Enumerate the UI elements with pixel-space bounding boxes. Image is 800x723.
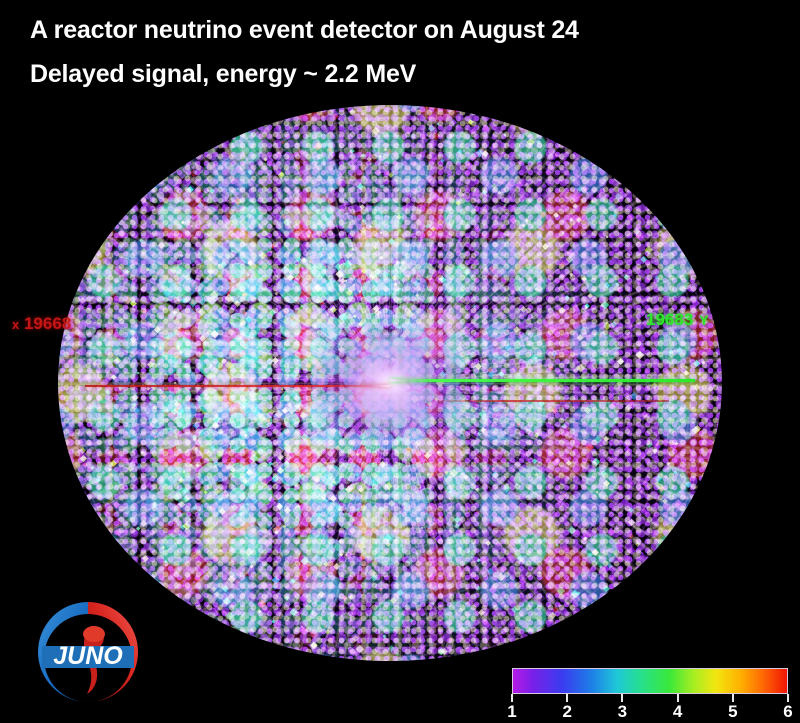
colorbar-labels: 123456 <box>512 702 788 723</box>
y-axis-value: 19683 <box>646 310 693 329</box>
colorbar-tick-label: 5 <box>728 702 737 722</box>
y-axis-name: Y <box>699 312 708 328</box>
colorbar: 123456 <box>512 668 788 723</box>
colorbar-tick <box>511 694 513 702</box>
colorbar-tick-label: 4 <box>673 702 682 722</box>
colorbar-tick-label: 2 <box>562 702 571 722</box>
sphere-limb-shading <box>58 105 722 661</box>
x-axis-name: x <box>12 317 19 332</box>
colorbar-tick <box>566 694 568 702</box>
detector-sphere <box>58 105 722 661</box>
y-axis-label: 19683Y <box>646 310 709 330</box>
colorbar-tick <box>677 694 679 702</box>
colorbar-ticks <box>512 694 788 702</box>
juno-wordmark: JUNO <box>53 642 123 670</box>
pmt-hit-map <box>58 105 722 661</box>
event-display-canvas: A reactor neutrino event detector on Aug… <box>0 0 800 723</box>
colorbar-gradient <box>512 668 788 694</box>
juno-logo: JUNO <box>22 592 154 712</box>
colorbar-tick-label: 3 <box>618 702 627 722</box>
colorbar-tick <box>621 694 623 702</box>
colorbar-tick <box>732 694 734 702</box>
title-block: A reactor neutrino event detector on Aug… <box>30 18 579 87</box>
colorbar-tick-label: 6 <box>783 702 792 722</box>
x-axis-label: x 19668 <box>12 314 71 334</box>
colorbar-tick <box>787 694 789 702</box>
page-subtitle: Delayed signal, energy ~ 2.2 MeV <box>30 62 579 87</box>
colorbar-tick-label: 1 <box>507 702 516 722</box>
x-axis-value: 19668 <box>24 314 71 333</box>
page-title: A reactor neutrino event detector on Aug… <box>30 18 579 43</box>
juno-logo-icon: JUNO <box>22 592 154 712</box>
